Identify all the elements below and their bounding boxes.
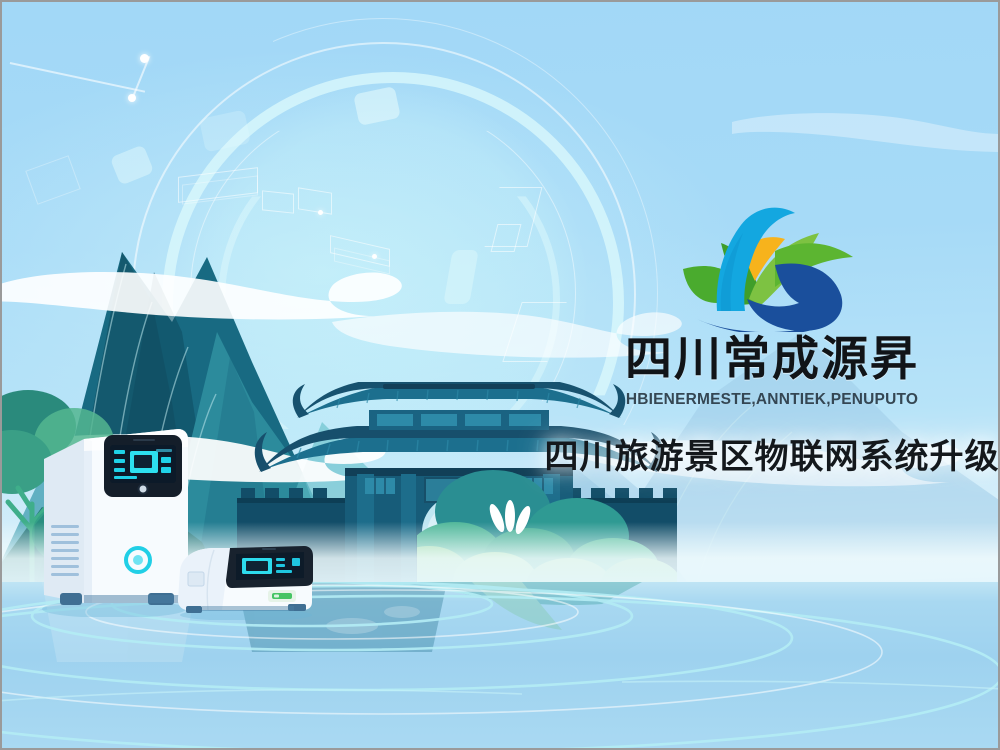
- brand-block: 四川常成源昇 HBIENERMESTE,ANNTIEK,PENUPUTO: [562, 207, 982, 408]
- company-name: 四川常成源昇: [562, 336, 982, 383]
- analyzer-large[interactable]: [38, 417, 190, 617]
- logo-svg: [657, 207, 887, 332]
- poster-canvas: 四川常成源昇 HBIENERMESTE,ANNTIEK,PENUPUTO 四川旅…: [0, 0, 1000, 750]
- company-subtitle: HBIENERMESTE,ANNTIEK,PENUPUTO: [562, 392, 982, 408]
- analyzer-small[interactable]: [170, 530, 320, 620]
- headline-title: 四川旅游景区物联网系统升级: [542, 439, 1000, 476]
- scenery-leaf-logo: [657, 207, 887, 332]
